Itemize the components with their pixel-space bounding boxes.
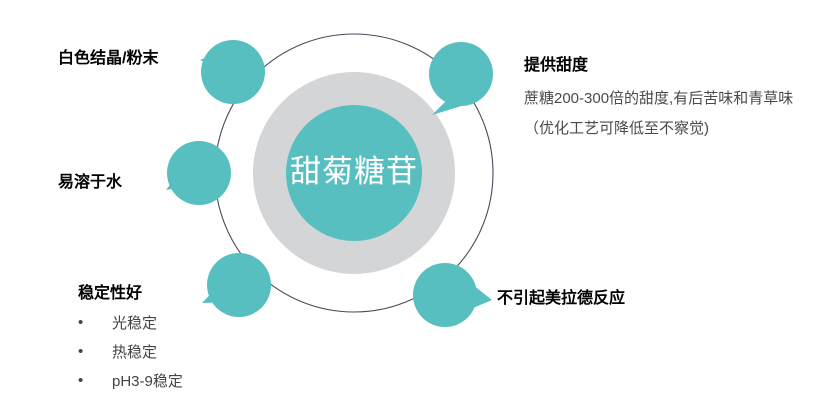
callout-maillard-heading: 不引起美拉德反应 — [497, 288, 625, 310]
callout-water-soluble: 易溶于水 — [58, 172, 122, 194]
slide-canvas: 甜菊糖苷 白色结晶/粉末 易溶于水 稳定性好 光稳定 热稳定 pH3-9稳定 提… — [0, 0, 831, 420]
bubble-water-soluble[interactable] — [166, 141, 231, 205]
callout-water-soluble-heading: 易溶于水 — [58, 172, 122, 194]
list-item: 光稳定 — [78, 309, 183, 338]
bubble-stability[interactable] — [202, 253, 271, 317]
bubble-white-crystal[interactable] — [200, 40, 265, 104]
callout-stability-heading: 稳定性好 — [78, 283, 183, 305]
bubble-body-sweetness — [429, 42, 493, 106]
bubble-body-stability — [207, 253, 271, 317]
callout-maillard: 不引起美拉德反应 — [497, 288, 625, 310]
callout-stability: 稳定性好 光稳定 热稳定 pH3-9稳定 — [78, 283, 183, 396]
center-label: 甜菊糖苷 — [255, 152, 453, 192]
stability-bullet-list: 光稳定 热稳定 pH3-9稳定 — [78, 309, 183, 396]
callout-sweetness: 提供甜度 蔗糖200-300倍的甜度,有后苦味和青草味（优化工艺可降低至不察觉) — [524, 55, 819, 144]
bubble-maillard[interactable] — [413, 263, 492, 327]
bubble-sweetness[interactable] — [429, 42, 493, 115]
callout-sweetness-body: 蔗糖200-300倍的甜度,有后苦味和青草味（优化工艺可降低至不察觉) — [524, 84, 819, 144]
bubble-body-white-crystal — [201, 40, 265, 104]
callout-white-crystal: 白色结晶/粉末 — [58, 48, 158, 70]
bubble-body-water-soluble — [167, 141, 231, 205]
callout-sweetness-heading: 提供甜度 — [524, 55, 819, 77]
bubble-body-maillard — [413, 263, 477, 327]
list-item: pH3-9稳定 — [78, 367, 183, 396]
callout-white-crystal-heading: 白色结晶/粉末 — [58, 48, 158, 70]
list-item: 热稳定 — [78, 338, 183, 367]
